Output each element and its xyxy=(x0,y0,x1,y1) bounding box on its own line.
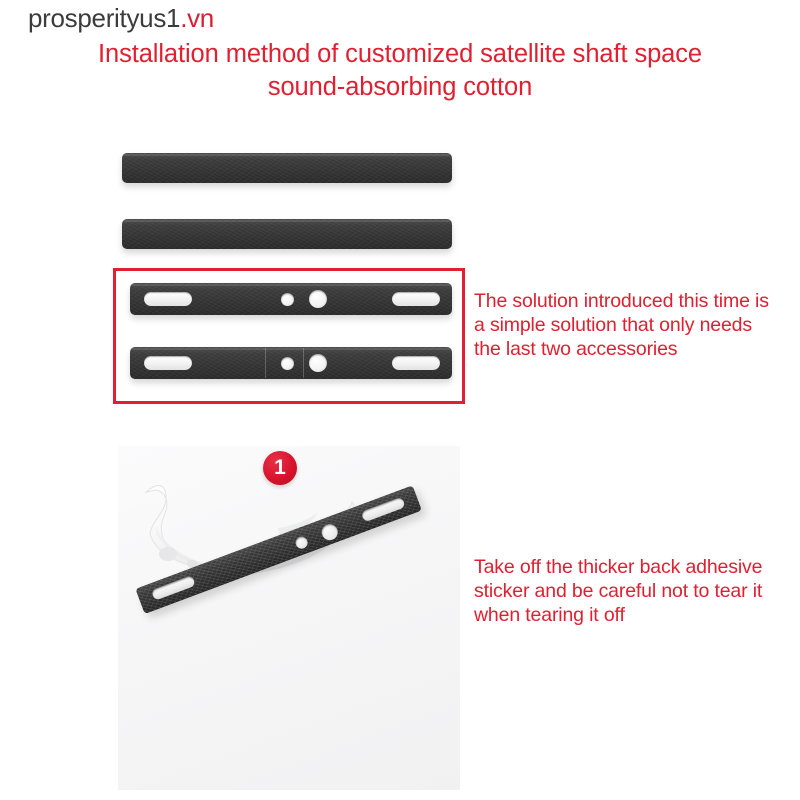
tilted-bar-hole-large xyxy=(319,522,340,543)
foam-strip-upper xyxy=(122,153,452,183)
watermark: prosperityus1.vn xyxy=(28,4,214,33)
callout-annotation-text: The solution introduced this time is a s… xyxy=(474,290,774,361)
hole-small-upper-bar xyxy=(281,293,294,306)
hole-small-lower-bar xyxy=(281,357,294,370)
hole-large-upper-bar xyxy=(309,290,327,308)
slot-right-upper-bar xyxy=(392,292,440,306)
foam-strip-lower xyxy=(122,219,452,249)
step-1-photo-panel xyxy=(118,446,460,790)
step-1-annotation-text: Take off the thicker back adhesive stick… xyxy=(474,556,764,627)
slot-left-lower-bar xyxy=(144,356,192,370)
seam-line-right xyxy=(303,348,304,378)
page-title-line-2: sound-absorbing cotton xyxy=(0,71,800,104)
slot-right-lower-bar xyxy=(392,356,440,370)
seam-line-left xyxy=(265,348,266,378)
slot-left-upper-bar xyxy=(144,292,192,306)
watermark-site-name: prosperityus1 xyxy=(28,3,180,33)
step-badge-1: 1 xyxy=(263,451,297,485)
page-title-line-1: Installation method of customized satell… xyxy=(0,38,800,71)
page-title: Installation method of customized satell… xyxy=(0,38,800,103)
watermark-tld: .vn xyxy=(180,3,214,33)
tilted-bar-hole-small xyxy=(294,535,309,550)
hole-large-lower-bar xyxy=(309,354,327,372)
